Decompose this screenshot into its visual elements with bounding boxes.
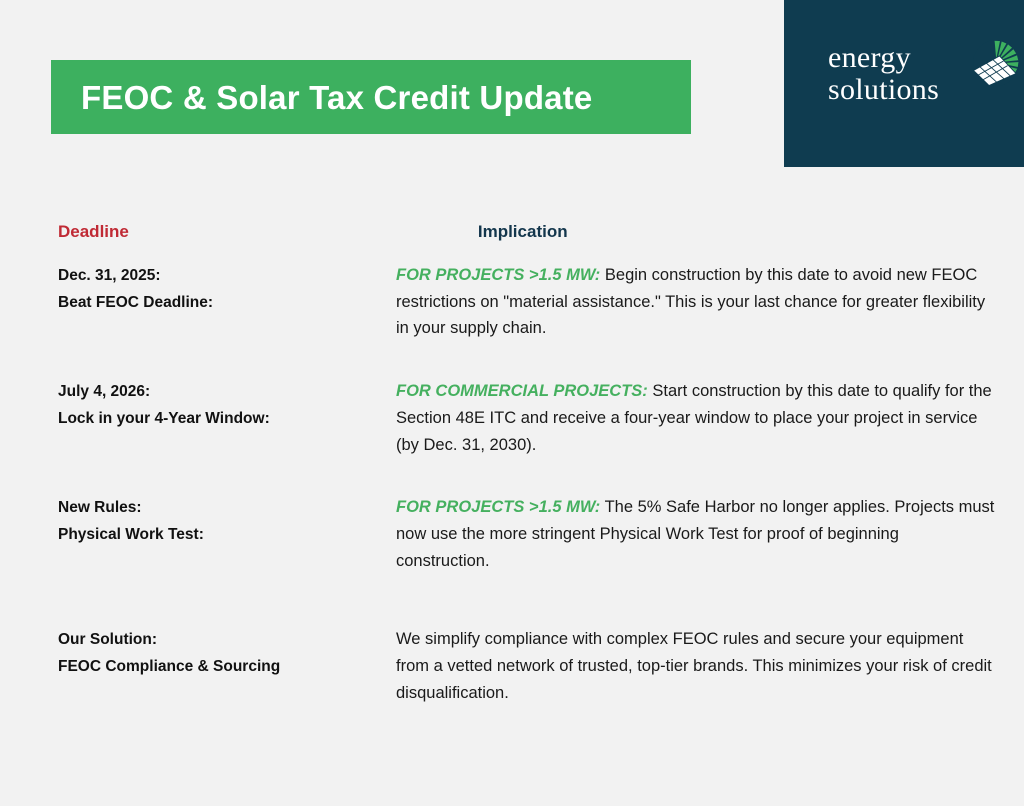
deadline-line-1: Our Solution:: [58, 627, 396, 654]
deadline-line-1: July 4, 2026:: [58, 379, 396, 406]
page-header: FEOC & Solar Tax Credit Update energy so…: [0, 0, 1024, 170]
deadline-line-2: FEOC Compliance & Sourcing: [58, 654, 396, 681]
implication-cell: We simplify compliance with complex FEOC…: [396, 626, 996, 706]
page-title: FEOC & Solar Tax Credit Update: [51, 81, 592, 114]
column-header-deadline: Deadline: [58, 222, 129, 242]
implication-cell: FOR PROJECTS >1.5 MW: Begin construction…: [396, 262, 996, 342]
implication-lead-in: FOR PROJECTS >1.5 MW:: [396, 266, 600, 284]
deadline-cell: Our Solution: FEOC Compliance & Sourcing: [58, 626, 396, 706]
column-header-implication: Implication: [478, 222, 568, 242]
deadline-line-2: Beat FEOC Deadline:: [58, 290, 396, 317]
deadline-cell: Dec. 31, 2025: Beat FEOC Deadline:: [58, 262, 396, 342]
deadline-cell: New Rules: Physical Work Test:: [58, 494, 396, 574]
deadline-line-2: Lock in your 4-Year Window:: [58, 406, 396, 433]
brand-logo-block: energy solutions: [784, 0, 1024, 167]
table-row: Our Solution: FEOC Compliance & Sourcing…: [0, 626, 1024, 706]
table-row: Dec. 31, 2025: Beat FEOC Deadline: FOR P…: [0, 262, 1024, 342]
implication-cell: FOR COMMERCIAL PROJECTS: Start construct…: [396, 378, 996, 458]
table-row: July 4, 2026: Lock in your 4-Year Window…: [0, 378, 1024, 458]
deadline-cell: July 4, 2026: Lock in your 4-Year Window…: [58, 378, 396, 458]
implication-lead-in: FOR PROJECTS >1.5 MW:: [396, 498, 600, 516]
deadline-line-1: New Rules:: [58, 495, 396, 522]
title-banner: FEOC & Solar Tax Credit Update: [51, 60, 691, 134]
implication-cell: FOR PROJECTS >1.5 MW: The 5% Safe Harbor…: [396, 494, 996, 574]
deadline-line-2: Physical Work Test:: [58, 522, 396, 549]
implication-lead-in: FOR COMMERCIAL PROJECTS:: [396, 382, 648, 400]
table-row: New Rules: Physical Work Test: FOR PROJE…: [0, 494, 1024, 574]
table-header-row: Deadline Implication: [0, 222, 1024, 242]
solar-sun-panel-mark-icon: [972, 39, 1020, 87]
deadline-line-1: Dec. 31, 2025:: [58, 263, 396, 290]
implication-body: We simplify compliance with complex FEOC…: [396, 630, 992, 701]
deadlines-table: Deadline Implication Dec. 31, 2025: Beat…: [0, 222, 1024, 707]
